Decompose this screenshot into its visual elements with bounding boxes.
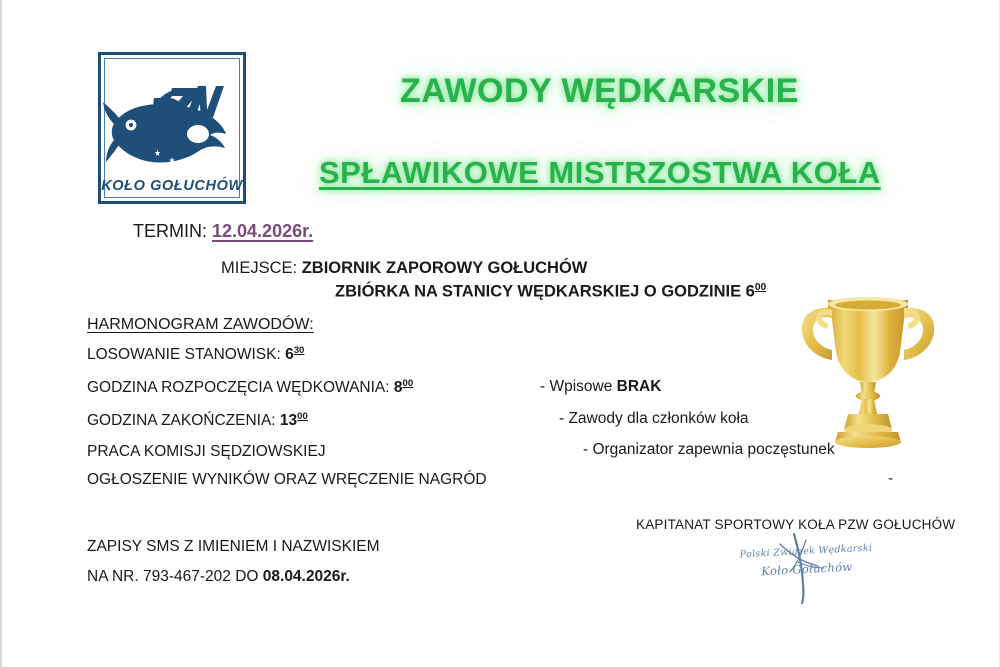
registration-deadline: 08.04.2026r. <box>263 568 350 585</box>
schedule-item-3-minutes: 00 <box>297 411 308 422</box>
event-date-label: TERMIN: <box>133 221 207 241</box>
schedule-item-5: OGŁOSZENIE WYNIKÓW ORAZ WRĘCZENIE NAGRÓD <box>87 471 487 489</box>
event-date-line: TERMIN: 12.04.2026r. <box>133 221 313 242</box>
schedule-item-1-hour: 6 <box>285 346 294 363</box>
event-place-value: ZBIORNIK ZAPOROWY GOŁUCHÓW <box>302 259 588 277</box>
note-2-text: Zawody dla członków koła <box>568 410 748 427</box>
schedule-item-2-minutes: 00 <box>403 378 414 389</box>
registration-phone-text: NA NR. 793-467-202 DO <box>87 568 263 585</box>
schedule-item-4: PRACA KOMISJI SĘDZIOWSKIEJ <box>87 443 326 461</box>
note-item-2: - Zawody dla członków koła <box>559 410 749 428</box>
note-1-emphasis: BRAK <box>617 378 662 395</box>
signature-title: KAPITANAT SPORTOWY KOŁA PZW GOŁUCHÓW <box>636 517 955 532</box>
club-logo: KOŁO GOŁUCHÓW <box>98 52 246 204</box>
schedule-item-3-hour: 13 <box>280 412 297 429</box>
event-meeting-time-sup: 00 <box>755 282 766 293</box>
schedule-item-1: LOSOWANIE STANOWISK: 630 <box>87 345 304 364</box>
trophy-cup-icon <box>788 282 948 452</box>
event-place-label: MIEJSCE: <box>221 259 297 277</box>
page-subtitle: SPŁAWIKOWE MISTRZOSTWA KOŁA <box>319 155 881 191</box>
club-signature-stamp: Polski Związek Wędkarski Koło Gołuchów <box>702 532 902 604</box>
logo-caption: KOŁO GOŁUCHÓW <box>101 176 243 194</box>
schedule-item-2: GODZINA ROZPOCZĘCIA WĘDKOWANIA: 800 <box>87 378 413 397</box>
poster-canvas: KOŁO GOŁUCHÓW ZAWODY WĘDKARSKIE SPŁAWIKO… <box>0 0 1000 667</box>
note-item-1: - Wpisowe BRAK <box>540 378 661 396</box>
schedule-item-3: GODZINA ZAKOŃCZENIA: 1300 <box>87 411 308 430</box>
event-place-line: MIEJSCE: ZBIORNIK ZAPOROWY GOŁUCHÓW <box>221 259 587 278</box>
event-meeting-line: ZBIÓRKA NA STANICY WĘDKARSKIEJ O GODZINI… <box>335 282 766 302</box>
event-meeting-text: ZBIÓRKA NA STANICY WĘDKARSKIEJ O GODZINI… <box>335 283 755 301</box>
stray-dash-mark: - <box>888 470 893 488</box>
schedule-item-3-label: GODZINA ZAKOŃCZENIA: <box>87 412 280 429</box>
schedule-item-2-hour: 8 <box>394 379 403 396</box>
schedule-item-1-label: LOSOWANIE STANOWISK: <box>87 346 285 363</box>
logo-artwork: KOŁO GOŁUCHÓW <box>98 52 246 204</box>
page-title: ZAWODY WĘDKARSKIE <box>400 72 799 111</box>
schedule-item-1-minutes: 30 <box>294 345 305 356</box>
note-1-text: Wpisowe <box>549 378 616 395</box>
registration-line-2: NA NR. 793-467-202 DO 08.04.2026r. <box>87 568 350 586</box>
schedule-heading: HARMONOGRAM ZAWODÓW: <box>87 316 314 334</box>
registration-line-1: ZAPISY SMS Z IMIENIEM I NAZWISKIEM <box>87 538 380 556</box>
schedule-item-2-label: GODZINA ROZPOCZĘCIA WĘDKOWANIA: <box>87 379 394 396</box>
event-date-value: 12.04.2026r. <box>212 221 313 241</box>
